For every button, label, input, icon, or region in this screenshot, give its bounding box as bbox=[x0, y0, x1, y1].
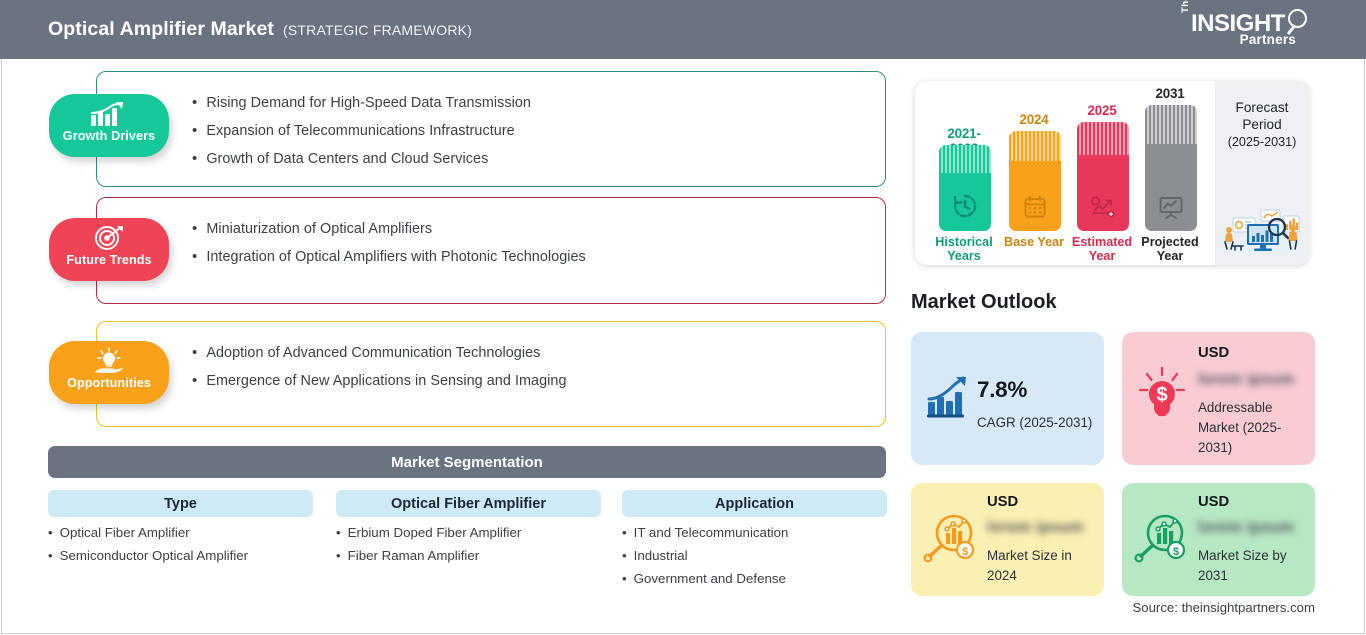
badge-future-trends[interactable]: Future Trends bbox=[49, 218, 169, 281]
timeline-caption: Base Year bbox=[1001, 235, 1067, 249]
card-label: Market Size by 2031 bbox=[1198, 546, 1310, 586]
bar-stripe-top bbox=[939, 145, 991, 173]
lightbulb-dollar-icon: $ bbox=[1136, 366, 1188, 427]
bullet-item: Adoption of Advanced Communication Techn… bbox=[192, 344, 540, 361]
magnifier-chart-dollar-icon: $ bbox=[923, 511, 979, 572]
timeline-year-label: 2025 bbox=[1070, 103, 1134, 118]
bullet-item: Integration of Optical Amplifiers with P… bbox=[192, 248, 586, 265]
list-item: Semiconductor Optical Amplifier bbox=[48, 548, 313, 563]
card-addressable-market: $ USD lorem ipsum Addressable Market (20… bbox=[1122, 332, 1315, 465]
list-item: Optical Fiber Amplifier bbox=[48, 525, 313, 540]
currency-label: USD bbox=[1198, 494, 1229, 510]
svg-text:$: $ bbox=[962, 546, 968, 558]
lightbulb-in-hand-icon bbox=[92, 347, 126, 374]
badge-growth-drivers[interactable]: Growth Drivers bbox=[49, 94, 169, 157]
bar-stripe-top bbox=[1009, 131, 1061, 161]
forecast-period-range: (2025-2031) bbox=[1228, 135, 1297, 149]
market-value-blurred: lorem ipsum bbox=[987, 519, 1084, 537]
list-item: Industrial bbox=[622, 548, 887, 563]
bar-stripe-top bbox=[1145, 105, 1197, 144]
segmentation-items: Optical Fiber Amplifier Semiconductor Op… bbox=[48, 525, 313, 563]
bar-solid-body bbox=[1077, 155, 1129, 231]
presentation-chart-icon bbox=[1145, 195, 1197, 219]
magnifier-chart-dollar-icon: $ bbox=[1134, 511, 1190, 572]
page-title-text: Optical Amplifier Market bbox=[48, 18, 274, 40]
forecast-period-panel: Forecast Period (2025-2031) bbox=[1215, 81, 1309, 265]
segmentation-column-type: Type Optical Fiber Amplifier Semiconduct… bbox=[48, 490, 313, 563]
segmentation-items: Erbium Doped Fiber Amplifier Fiber Raman… bbox=[336, 525, 601, 563]
logo-the-text: The bbox=[1180, 0, 1191, 13]
bar-stripe-top bbox=[1077, 122, 1129, 155]
svg-text:$: $ bbox=[1156, 384, 1167, 406]
timeline-year-label: 2031 bbox=[1137, 86, 1203, 101]
target-dartboard-icon bbox=[93, 224, 125, 251]
insight-partners-logo: The INSIGHT Partners bbox=[1180, 8, 1308, 52]
page-header: Optical Amplifier Market(STRATEGIC FRAME… bbox=[0, 0, 1366, 59]
list-item: Fiber Raman Amplifier bbox=[336, 548, 601, 563]
bullet-item: Expansion of Telecommunications Infrastr… bbox=[192, 122, 515, 139]
timeline-caption: Historical Years bbox=[931, 235, 997, 263]
card-market-size-2031: $ USD lorem ipsum Market Size by 2031 bbox=[1122, 483, 1315, 596]
market-segmentation-header: Market Segmentation bbox=[48, 446, 886, 478]
estimate-chart-icon bbox=[1077, 195, 1129, 219]
list-item: IT and Telecommunication bbox=[622, 525, 887, 540]
business-analytics-illustration bbox=[1217, 194, 1307, 261]
infographic-page: Optical Amplifier Market(STRATEGIC FRAME… bbox=[0, 0, 1366, 635]
future-trends-box: Miniaturization of Optical Amplifiers In… bbox=[96, 197, 886, 304]
timeline-caption: Estimated Year bbox=[1067, 235, 1137, 263]
badge-label: Opportunities bbox=[67, 376, 151, 390]
badge-opportunities[interactable]: Opportunities bbox=[49, 341, 169, 404]
timeline-panel: 2021-2023 Historical Years 2024 bbox=[915, 81, 1309, 265]
segmentation-column-application: Application IT and Telecommunication Ind… bbox=[622, 490, 887, 586]
clock-history-icon bbox=[939, 193, 991, 219]
bar-solid-body bbox=[939, 173, 991, 231]
growth-drivers-box: Rising Demand for High-Speed Data Transm… bbox=[96, 71, 886, 187]
segmentation-column-title: Application bbox=[622, 490, 887, 517]
bar-solid-body bbox=[1009, 161, 1061, 231]
card-label: Addressable Market (2025-2031) bbox=[1198, 398, 1310, 458]
source-attribution: Source: theinsightpartners.com bbox=[1132, 600, 1315, 615]
timeline-caption: Projected Year bbox=[1134, 235, 1207, 263]
timeline-bar-projected: 2031 Projected Year bbox=[1137, 81, 1203, 265]
svg-text:$: $ bbox=[1173, 546, 1179, 558]
page-title: Optical Amplifier Market(STRATEGIC FRAME… bbox=[48, 18, 472, 41]
timeline-bar-estimated: 2025 Estimated bbox=[1070, 81, 1134, 265]
bar-solid-body bbox=[1145, 144, 1197, 231]
bullet-item: Growth of Data Centers and Cloud Service… bbox=[192, 150, 488, 167]
cagr-value: 7.8% bbox=[977, 377, 1027, 403]
timeline-bar-historical: 2021-2023 Historical Years bbox=[934, 81, 994, 265]
currency-label: USD bbox=[987, 494, 1018, 510]
bar-chart-arrow-icon bbox=[926, 376, 972, 423]
bullet-item: Emergence of New Applications in Sensing… bbox=[192, 372, 567, 389]
page-subtitle: (STRATEGIC FRAMEWORK) bbox=[283, 22, 472, 38]
forecast-title-line2: Period bbox=[1242, 116, 1281, 133]
opportunities-box: Adoption of Advanced Communication Techn… bbox=[96, 321, 886, 427]
segmentation-column-optical-fiber-amplifier: Optical Fiber Amplifier Erbium Doped Fib… bbox=[336, 490, 601, 563]
calendar-icon bbox=[1009, 195, 1061, 219]
segmentation-column-title: Type bbox=[48, 490, 313, 517]
list-item: Government and Defense bbox=[622, 571, 887, 586]
logo-partners-text: Partners bbox=[1240, 32, 1296, 47]
forecast-title-line1: Forecast bbox=[1236, 99, 1289, 116]
market-outlook-title: Market Outlook bbox=[911, 291, 1057, 314]
badge-label: Growth Drivers bbox=[63, 129, 155, 143]
cagr-label: CAGR (2025-2031) bbox=[977, 413, 1092, 433]
badge-label: Future Trends bbox=[66, 253, 151, 267]
timeline-bar-base: 2024 bbox=[1004, 81, 1064, 265]
segmentation-column-title: Optical Fiber Amplifier bbox=[336, 490, 601, 517]
logo-ring-icon bbox=[1288, 9, 1307, 28]
market-value-blurred: lorem ipsum bbox=[1198, 519, 1295, 537]
market-value-blurred: lorem ipsum bbox=[1198, 371, 1295, 389]
timeline-year-label: 2024 bbox=[1004, 112, 1064, 127]
card-cagr: 7.8% CAGR (2025-2031) bbox=[911, 332, 1104, 465]
currency-label: USD bbox=[1198, 345, 1229, 361]
card-label: Market Size in 2024 bbox=[987, 546, 1099, 586]
segmentation-items: IT and Telecommunication Industrial Gove… bbox=[622, 525, 887, 586]
list-item: Erbium Doped Fiber Amplifier bbox=[336, 525, 601, 540]
bullet-item: Miniaturization of Optical Amplifiers bbox=[192, 220, 432, 237]
bar-chart-growth-icon bbox=[89, 100, 129, 127]
card-market-size-2024: $ USD lorem ipsum Market Size in 2024 bbox=[911, 483, 1104, 596]
bullet-item: Rising Demand for High-Speed Data Transm… bbox=[192, 94, 531, 111]
